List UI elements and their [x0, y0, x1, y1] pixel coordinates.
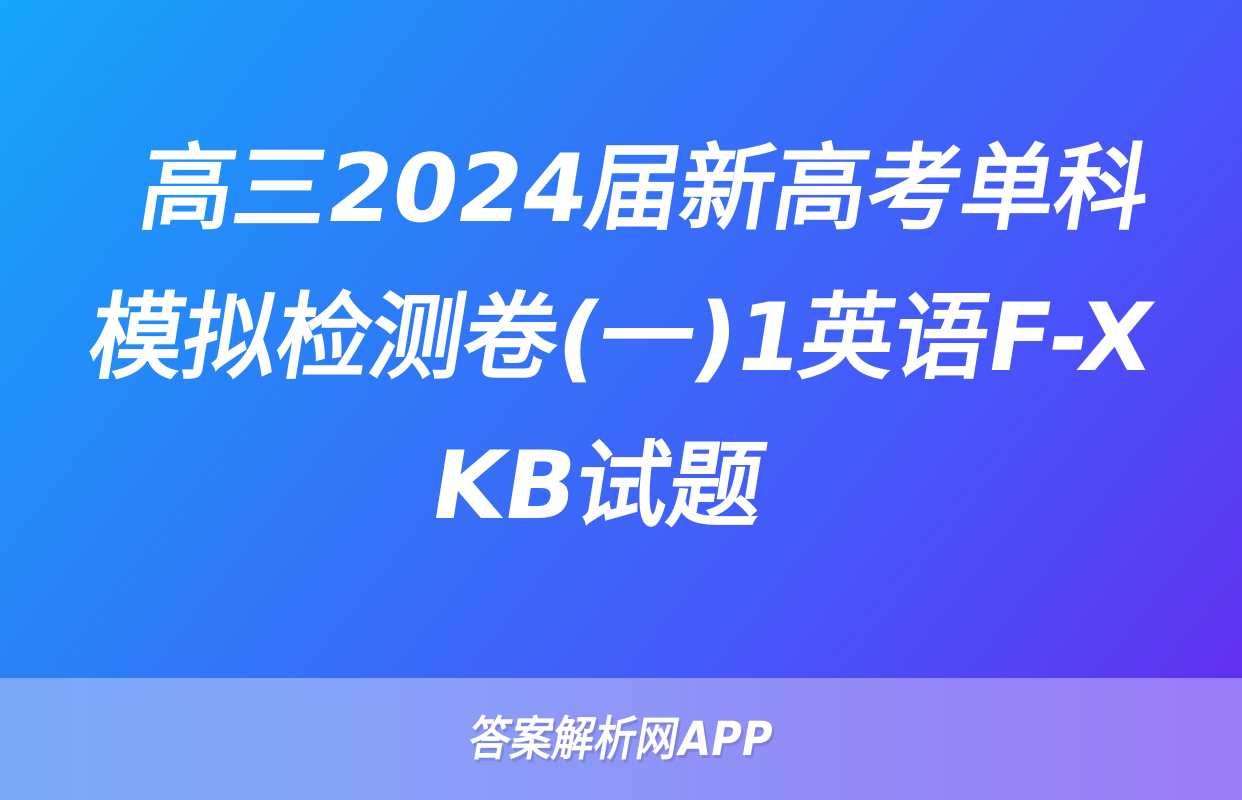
app-watermark-label: 答案解析网APP: [465, 716, 776, 763]
exam-cover-banner: 高三2024届新高考单科模拟检测卷(一)1英语F-XKB试题 答案解析网APP: [0, 0, 1242, 800]
hero-gradient-panel: 高三2024届新高考单科模拟检测卷(一)1英语F-XKB试题: [0, 0, 1242, 678]
watermark-bar: 答案解析网APP: [0, 678, 1242, 800]
page-title: 高三2024届新高考单科模拟检测卷(一)1英语F-XKB试题: [46, 116, 1197, 562]
title-block: 高三2024届新高考单科模拟检测卷(一)1英语F-XKB试题: [61, 116, 1181, 562]
